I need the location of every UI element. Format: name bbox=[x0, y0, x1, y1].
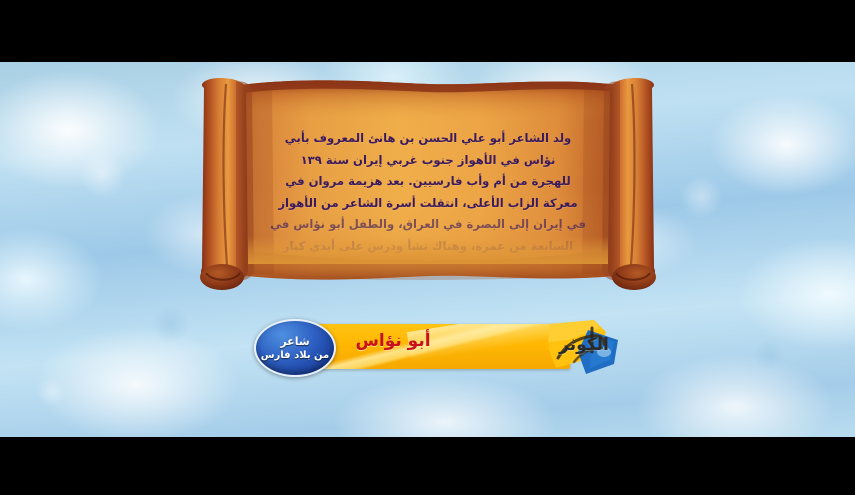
scroll-text-line: معركة الزاب الأعلى، انتقلت أسرة الشاعر م… bbox=[248, 193, 608, 215]
lower-third-banner: أبو نؤاس شاعر من بلاد فارس الكوثر bbox=[252, 318, 620, 380]
channel-logo: الكوثر bbox=[548, 318, 620, 380]
badge-line-bottom: من بلاد فارس bbox=[261, 349, 330, 362]
video-frame: ولد الشاعر أبو علي الحسن بن هانئ المعروف… bbox=[0, 0, 855, 495]
letterbox-bar-top bbox=[0, 0, 855, 62]
poet-category-badge: شاعر من بلاد فارس bbox=[254, 319, 336, 377]
scroll-text-line: السابعة من عمره، وهناك نشأ ودرس على أيدي… bbox=[248, 236, 608, 258]
badge-line-top: شاعر bbox=[280, 335, 309, 349]
scroll-text-line: ولد الشاعر أبو علي الحسن بن هانئ المعروف… bbox=[248, 128, 608, 150]
scroll-text-line: للهجرة من أم وأب فارسيين. بعد هزيمة مروا… bbox=[248, 171, 608, 193]
scroll-text-line: نؤاس في الأهواز جنوب غربي إيران سنة ١٣٩ bbox=[248, 150, 608, 172]
scroll-body-text: ولد الشاعر أبو علي الحسن بن هانئ المعروف… bbox=[248, 128, 608, 260]
letterbox-bar-bottom bbox=[0, 437, 855, 495]
scroll-text-line: في إيران إلى البصرة في العراق، والطفل أب… bbox=[248, 214, 608, 236]
channel-logo-mark-icon bbox=[548, 318, 620, 380]
